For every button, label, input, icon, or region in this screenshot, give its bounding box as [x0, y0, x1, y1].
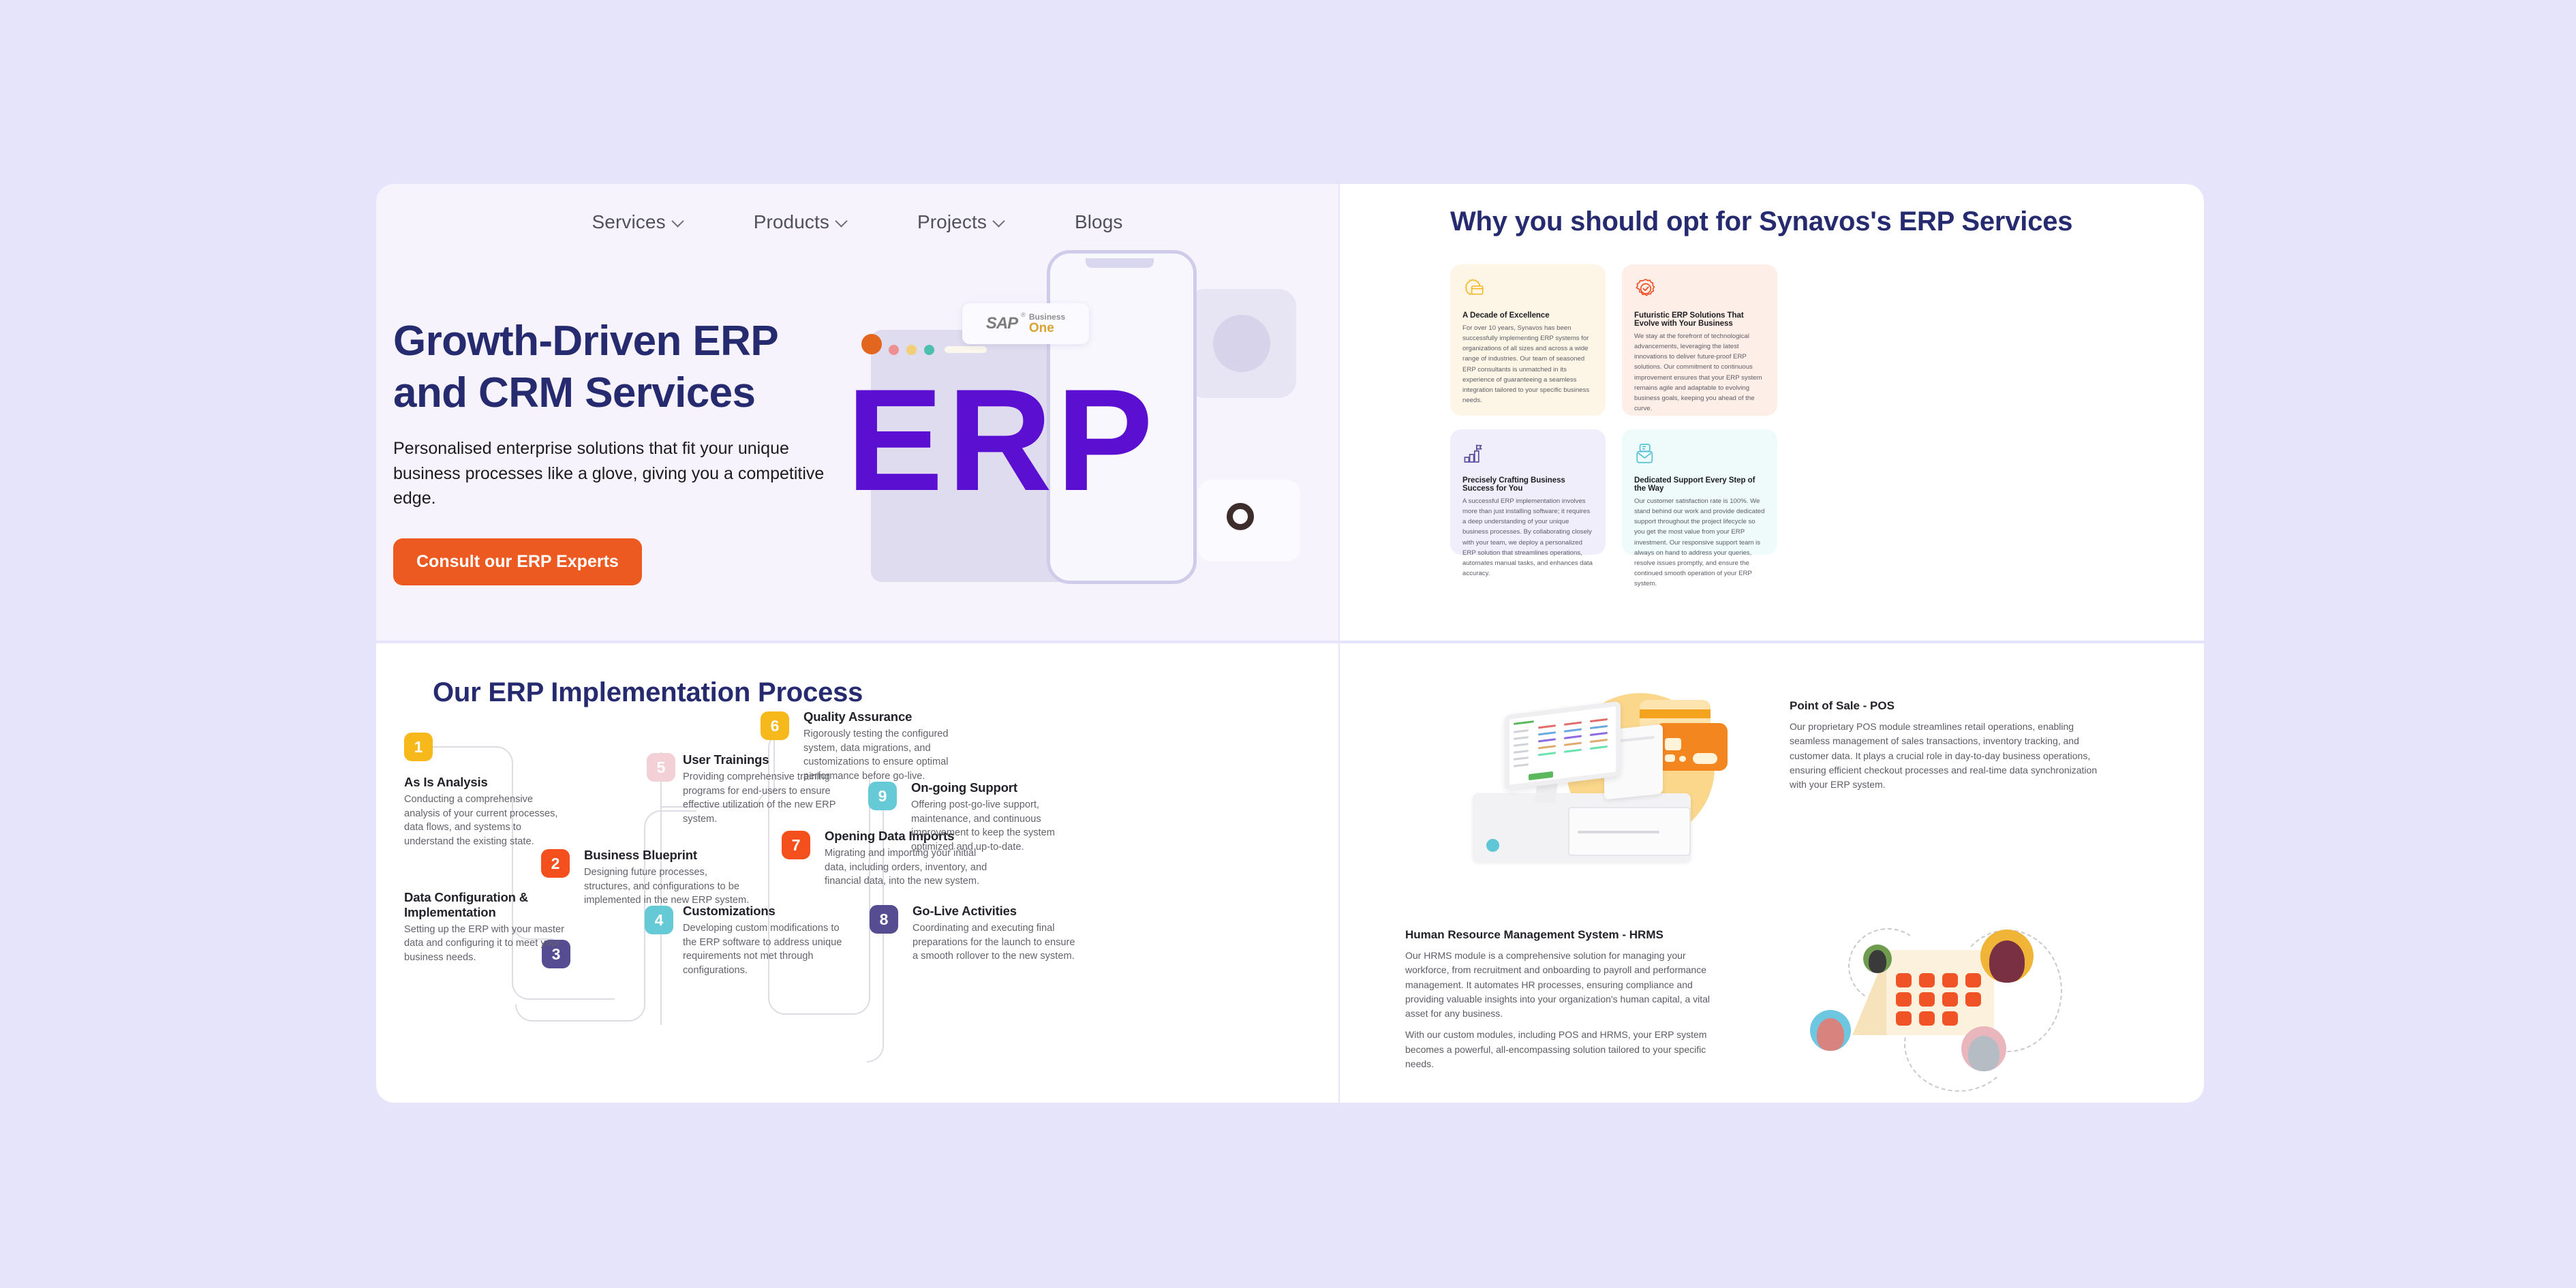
- step-number-badge: 6: [761, 711, 789, 740]
- hrms-module-copy: Human Resource Management System - HRMS …: [1405, 928, 1732, 1071]
- hero-title-line-1: Growth-Driven ERP: [393, 318, 778, 365]
- hrms-title: Human Resource Management System - HRMS: [1405, 928, 1732, 942]
- erp-wordmark: ERP: [846, 368, 1323, 513]
- calendar-cell: [1896, 992, 1912, 1007]
- step-number-badge: 1: [404, 733, 433, 761]
- bar-chart-flag-icon: [1462, 442, 1486, 465]
- calendar-cell: [1919, 973, 1935, 987]
- decorative-dot-orange: [861, 334, 882, 354]
- step-number-badge: 5: [647, 753, 675, 782]
- chevron-down-icon: [673, 215, 684, 226]
- phone-notch: [1086, 258, 1154, 268]
- sap-business-label: Business: [1029, 313, 1065, 321]
- step-number-badge: 7: [782, 831, 810, 859]
- calendar-graphic: [1886, 950, 1994, 1035]
- hero-copy: Growth-Driven ERP and CRM Services Perso…: [393, 316, 843, 585]
- page-root: Services Products Projects Blogs Growth-…: [0, 0, 2576, 1288]
- step-body: Coordinating and executing final prepara…: [913, 921, 1079, 964]
- sap-one-label: One: [1029, 322, 1065, 335]
- hero-panel: Services Products Projects Blogs Growth-…: [376, 184, 1338, 641]
- avatar: [1810, 1010, 1851, 1051]
- pos-module-copy: Point of Sale - POS Our proprietary POS …: [1790, 699, 2109, 792]
- step-body: Rigorously testing the configured system…: [803, 727, 970, 784]
- nav-label: Blogs: [1075, 211, 1123, 233]
- why-card-decade-of-excellence: A Decade of Excellence For over 10 years…: [1450, 264, 1606, 416]
- why-card-crafting-success: Precisely Crafting Business Success for …: [1450, 429, 1606, 555]
- avatar: [1863, 945, 1892, 973]
- calendar-cell: [1942, 992, 1958, 1007]
- nav-item-blogs[interactable]: Blogs: [1075, 211, 1123, 233]
- step-content: Customizations Developing custom modific…: [683, 904, 850, 978]
- step-number-badge: 9: [868, 782, 897, 810]
- hrms-body-1: Our HRMS module is a comprehensive solut…: [1405, 949, 1732, 1021]
- main-navigation: Services Products Projects Blogs: [376, 211, 1338, 233]
- browser-dot-yellow: [906, 345, 917, 355]
- step-content: Data Configuration & Implementation Sett…: [404, 890, 571, 965]
- gear-check-icon: [1634, 277, 1657, 301]
- pos-screen-graphic: [1505, 701, 1621, 791]
- step-content: As Is Analysis Conducting a comprehensiv…: [404, 775, 571, 849]
- why-card-title: Futuristic ERP Solutions That Evolve wit…: [1634, 311, 1765, 328]
- calendar-cell: [1896, 1011, 1912, 1026]
- cash-drawer-front: [1568, 807, 1691, 856]
- custom-modules-panel: Point of Sale - POS Our proprietary POS …: [1340, 643, 2204, 1103]
- step-body: Conducting a comprehensive analysis of y…: [404, 793, 571, 849]
- why-card-dedicated-support: Dedicated Support Every Step of the Way …: [1622, 429, 1777, 555]
- step-title: Customizations: [683, 904, 850, 919]
- hero-title: Growth-Driven ERP and CRM Services: [393, 316, 843, 418]
- nav-item-projects[interactable]: Projects: [917, 211, 1005, 233]
- sap-business-one-logo: SAP ® Business One: [962, 303, 1089, 344]
- nav-item-products[interactable]: Products: [754, 211, 848, 233]
- step-title: Quality Assurance: [803, 709, 970, 724]
- cash-drawer-handle: [1578, 831, 1659, 833]
- cash-drawer-graphic: [1473, 793, 1691, 861]
- decorative-dot-teal: [1486, 839, 1499, 852]
- step-body: Designing future processes, structures, …: [584, 865, 751, 908]
- nav-label: Products: [754, 211, 829, 233]
- step-number-badge: 4: [645, 906, 673, 934]
- calendar-cell: [1942, 1011, 1958, 1026]
- why-card-body: A successful ERP implementation involves…: [1462, 496, 1593, 579]
- browser-dot-green: [924, 345, 934, 355]
- badge-certificate-icon: [1462, 277, 1486, 301]
- why-card-title: Dedicated Support Every Step of the Way: [1634, 476, 1765, 493]
- card-mark-3: [1693, 753, 1717, 764]
- step-content: Business Blueprint Designing future proc…: [584, 848, 751, 908]
- why-choose-us-panel: Why you should opt for Synavos's ERP Ser…: [1340, 184, 2204, 641]
- why-section-title: Why you should opt for Synavos's ERP Ser…: [1450, 206, 2072, 237]
- step-body: Offering post-go-live support, maintenan…: [911, 798, 1078, 855]
- card-chip: [1665, 738, 1681, 750]
- step-content: Go-Live Activities Coordinating and exec…: [913, 904, 1079, 964]
- sap-wordmark: SAP: [986, 314, 1017, 333]
- step-title: On-going Support: [911, 780, 1078, 795]
- step-content: Quality Assurance Rigorously testing the…: [803, 709, 970, 784]
- chevron-down-icon: [837, 215, 848, 226]
- browser-dot-red: [889, 345, 899, 355]
- registered-mark: ®: [1021, 311, 1026, 318]
- implementation-process-panel: Our ERP Implementation Process 1 As Is A…: [376, 643, 1338, 1103]
- calendar-cell: [1965, 973, 1981, 987]
- pos-body: Our proprietary POS module streamlines r…: [1790, 720, 2109, 792]
- step-title: Business Blueprint: [584, 848, 751, 863]
- calendar-cell: [1919, 1011, 1935, 1026]
- sap-sublabel: Business One: [1029, 313, 1065, 335]
- calendar-cell: [1942, 973, 1958, 987]
- hrms-body-2: With our custom modules, including POS a…: [1405, 1028, 1732, 1071]
- browser-address-bar: [945, 346, 987, 353]
- calendar-cell: [1919, 992, 1935, 1007]
- why-card-body: Our customer satisfaction rate is 100%. …: [1634, 496, 1765, 589]
- megaphone-mail-icon: [1634, 442, 1657, 465]
- hero-subtitle: Personalised enterprise solutions that f…: [393, 436, 829, 511]
- pos-terminal-illustration: [1462, 681, 1755, 885]
- hero-illustration: SAP ® Business One ERP: [846, 232, 1338, 641]
- step-number-badge: 8: [870, 905, 898, 934]
- step-title: As Is Analysis: [404, 775, 571, 790]
- why-card-futuristic-solutions: Futuristic ERP Solutions That Evolve wit…: [1622, 264, 1777, 416]
- card-mark-2: [1679, 756, 1686, 762]
- card-mark-1: [1665, 754, 1675, 762]
- hero-title-line-2: and CRM Services: [393, 369, 755, 416]
- nav-label: Projects: [917, 211, 987, 233]
- hrms-calendar-team-illustration: [1790, 916, 2089, 1086]
- credit-card-front-icon: [1655, 723, 1728, 771]
- why-card-title: A Decade of Excellence: [1462, 311, 1593, 320]
- nav-item-services[interactable]: Services: [592, 211, 684, 233]
- avatar: [1961, 1026, 2006, 1071]
- pos-title: Point of Sale - POS: [1790, 699, 2109, 713]
- why-card-body: For over 10 years, Synavos has been succ…: [1462, 323, 1593, 405]
- avatar: [1980, 930, 2034, 983]
- calendar-cell: [1965, 992, 1981, 1007]
- step-body: Setting up the ERP with your master data…: [404, 923, 571, 965]
- consult-erp-experts-button[interactable]: Consult our ERP Experts: [393, 538, 642, 585]
- step-title: Go-Live Activities: [913, 904, 1079, 919]
- calendar-cell: [1896, 973, 1912, 987]
- nav-label: Services: [592, 211, 666, 233]
- why-card-title: Precisely Crafting Business Success for …: [1462, 476, 1593, 493]
- step-body: Developing custom modifications to the E…: [683, 921, 850, 978]
- chevron-down-icon: [994, 215, 1005, 226]
- why-cards-grid: A Decade of Excellence For over 10 years…: [1450, 264, 1777, 555]
- step-number-badge: 2: [541, 849, 570, 878]
- step-title: Data Configuration & Implementation: [404, 890, 571, 920]
- why-card-body: We stay at the forefront of technologica…: [1634, 331, 1765, 414]
- step-content: On-going Support Offering post-go-live s…: [911, 780, 1078, 855]
